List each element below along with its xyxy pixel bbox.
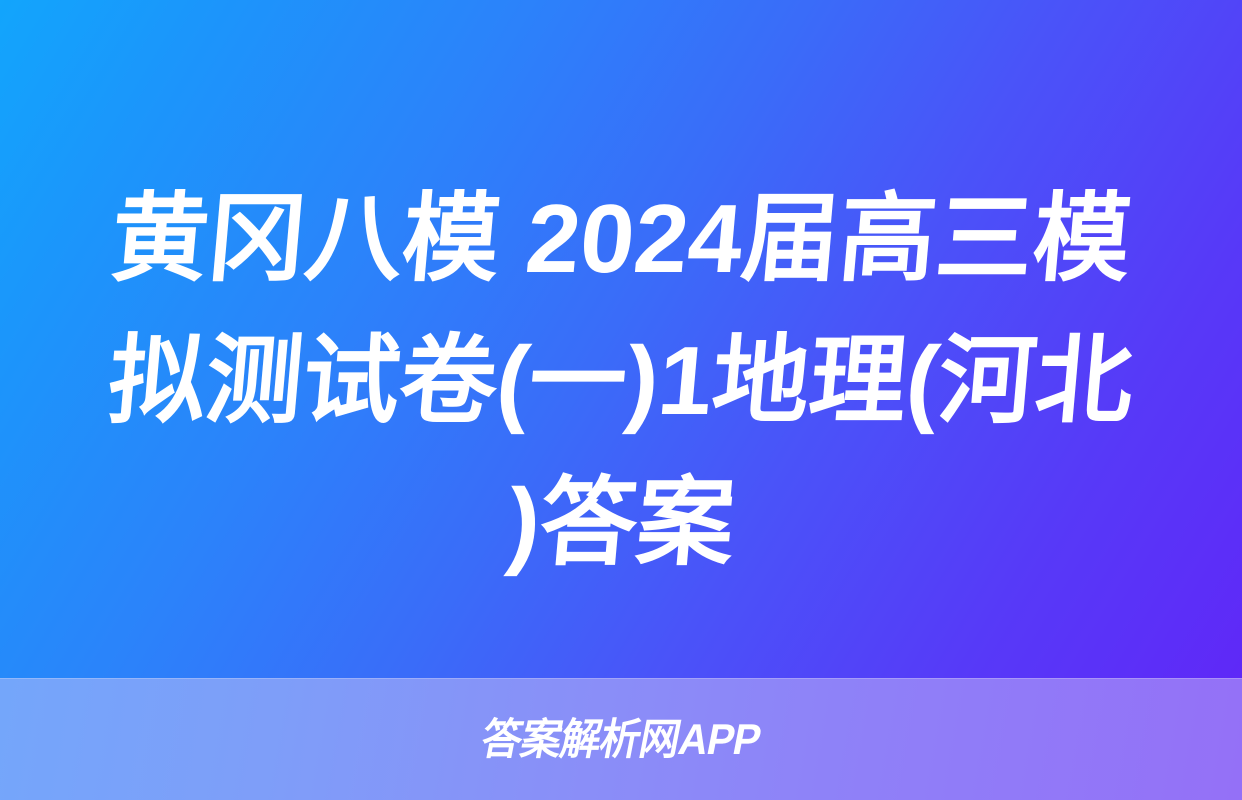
title-line-2: 拟测试卷(一)1地理(河北: [64, 310, 1178, 452]
title-line-3: )答案: [64, 452, 1178, 594]
cover-image: 黄冈八模 2024届高三模 拟测试卷(一)1地理(河北 )答案 答案解析网APP: [0, 0, 1242, 800]
app-wordmark: 答案解析网APP: [478, 719, 764, 762]
footer-banner: 答案解析网APP: [0, 678, 1242, 800]
page-title: 黄冈八模 2024届高三模 拟测试卷(一)1地理(河北 )答案: [0, 168, 1242, 594]
title-line-1: 黄冈八模 2024届高三模: [64, 168, 1178, 310]
